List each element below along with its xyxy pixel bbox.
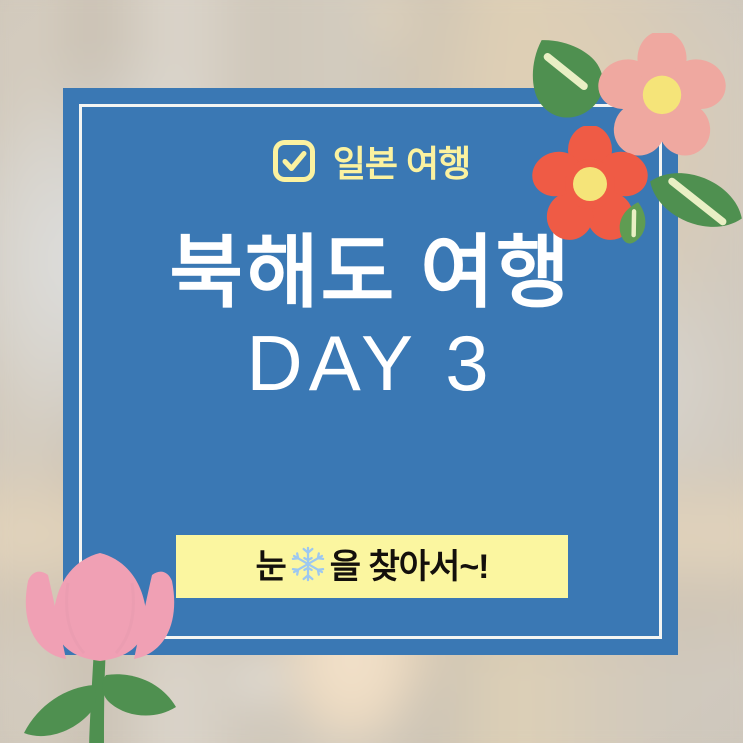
- tulip-icon: [10, 535, 190, 743]
- snowflake-icon: [289, 545, 327, 588]
- day-subtitle: DAY 3: [246, 321, 494, 407]
- highlight-banner: 눈: [176, 535, 568, 598]
- page-title: 북해도 여행: [169, 231, 571, 315]
- checkbox-checked-icon: [271, 138, 317, 189]
- eyebrow-label: 일본 여행: [333, 146, 470, 182]
- leaf-icon: [641, 157, 743, 248]
- eyebrow-row: 일본 여행: [271, 138, 470, 189]
- poster-canvas: 일본 여행 북해도 여행 DAY 3 눈: [0, 0, 743, 743]
- leaf-icon: [613, 199, 653, 252]
- banner-text-before: 눈: [255, 550, 285, 584]
- banner-text-after: 을 찾아서~!: [330, 550, 489, 584]
